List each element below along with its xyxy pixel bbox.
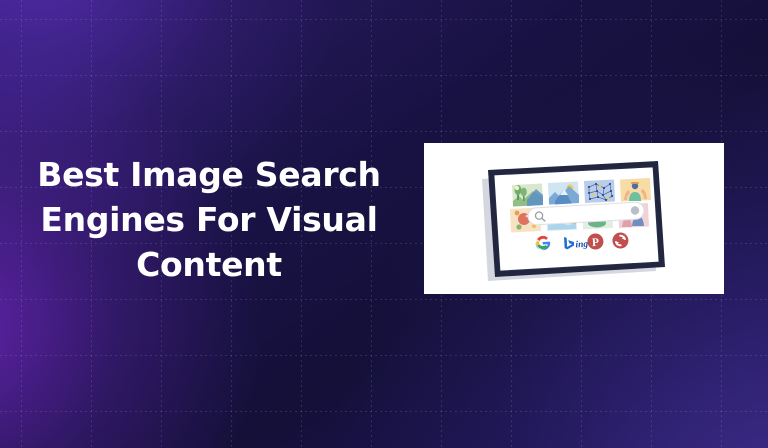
thumbnail-landscape-trees-mountain — [512, 184, 543, 207]
svg-text:P: P — [592, 237, 600, 249]
page-title-line-3: Content — [24, 242, 394, 287]
page-title-line-2: Engines For Visual — [24, 197, 394, 242]
page-title-line-1: Best Image Search — [24, 152, 394, 197]
page-title: Best Image Search Engines For Visual Con… — [24, 152, 394, 287]
thumbnail-mountain-sunrise — [548, 182, 579, 205]
search-bar-knob[interactable] — [631, 206, 639, 214]
illustration-card: ing P — [424, 143, 724, 294]
blog-banner: Best Image Search Engines For Visual Con… — [0, 0, 768, 448]
thumbnail-network-diagram — [584, 180, 615, 204]
thumbnail-people-presentation — [620, 178, 651, 202]
svg-text:ing: ing — [575, 240, 588, 251]
tablet-illustration: ing P — [424, 143, 724, 294]
